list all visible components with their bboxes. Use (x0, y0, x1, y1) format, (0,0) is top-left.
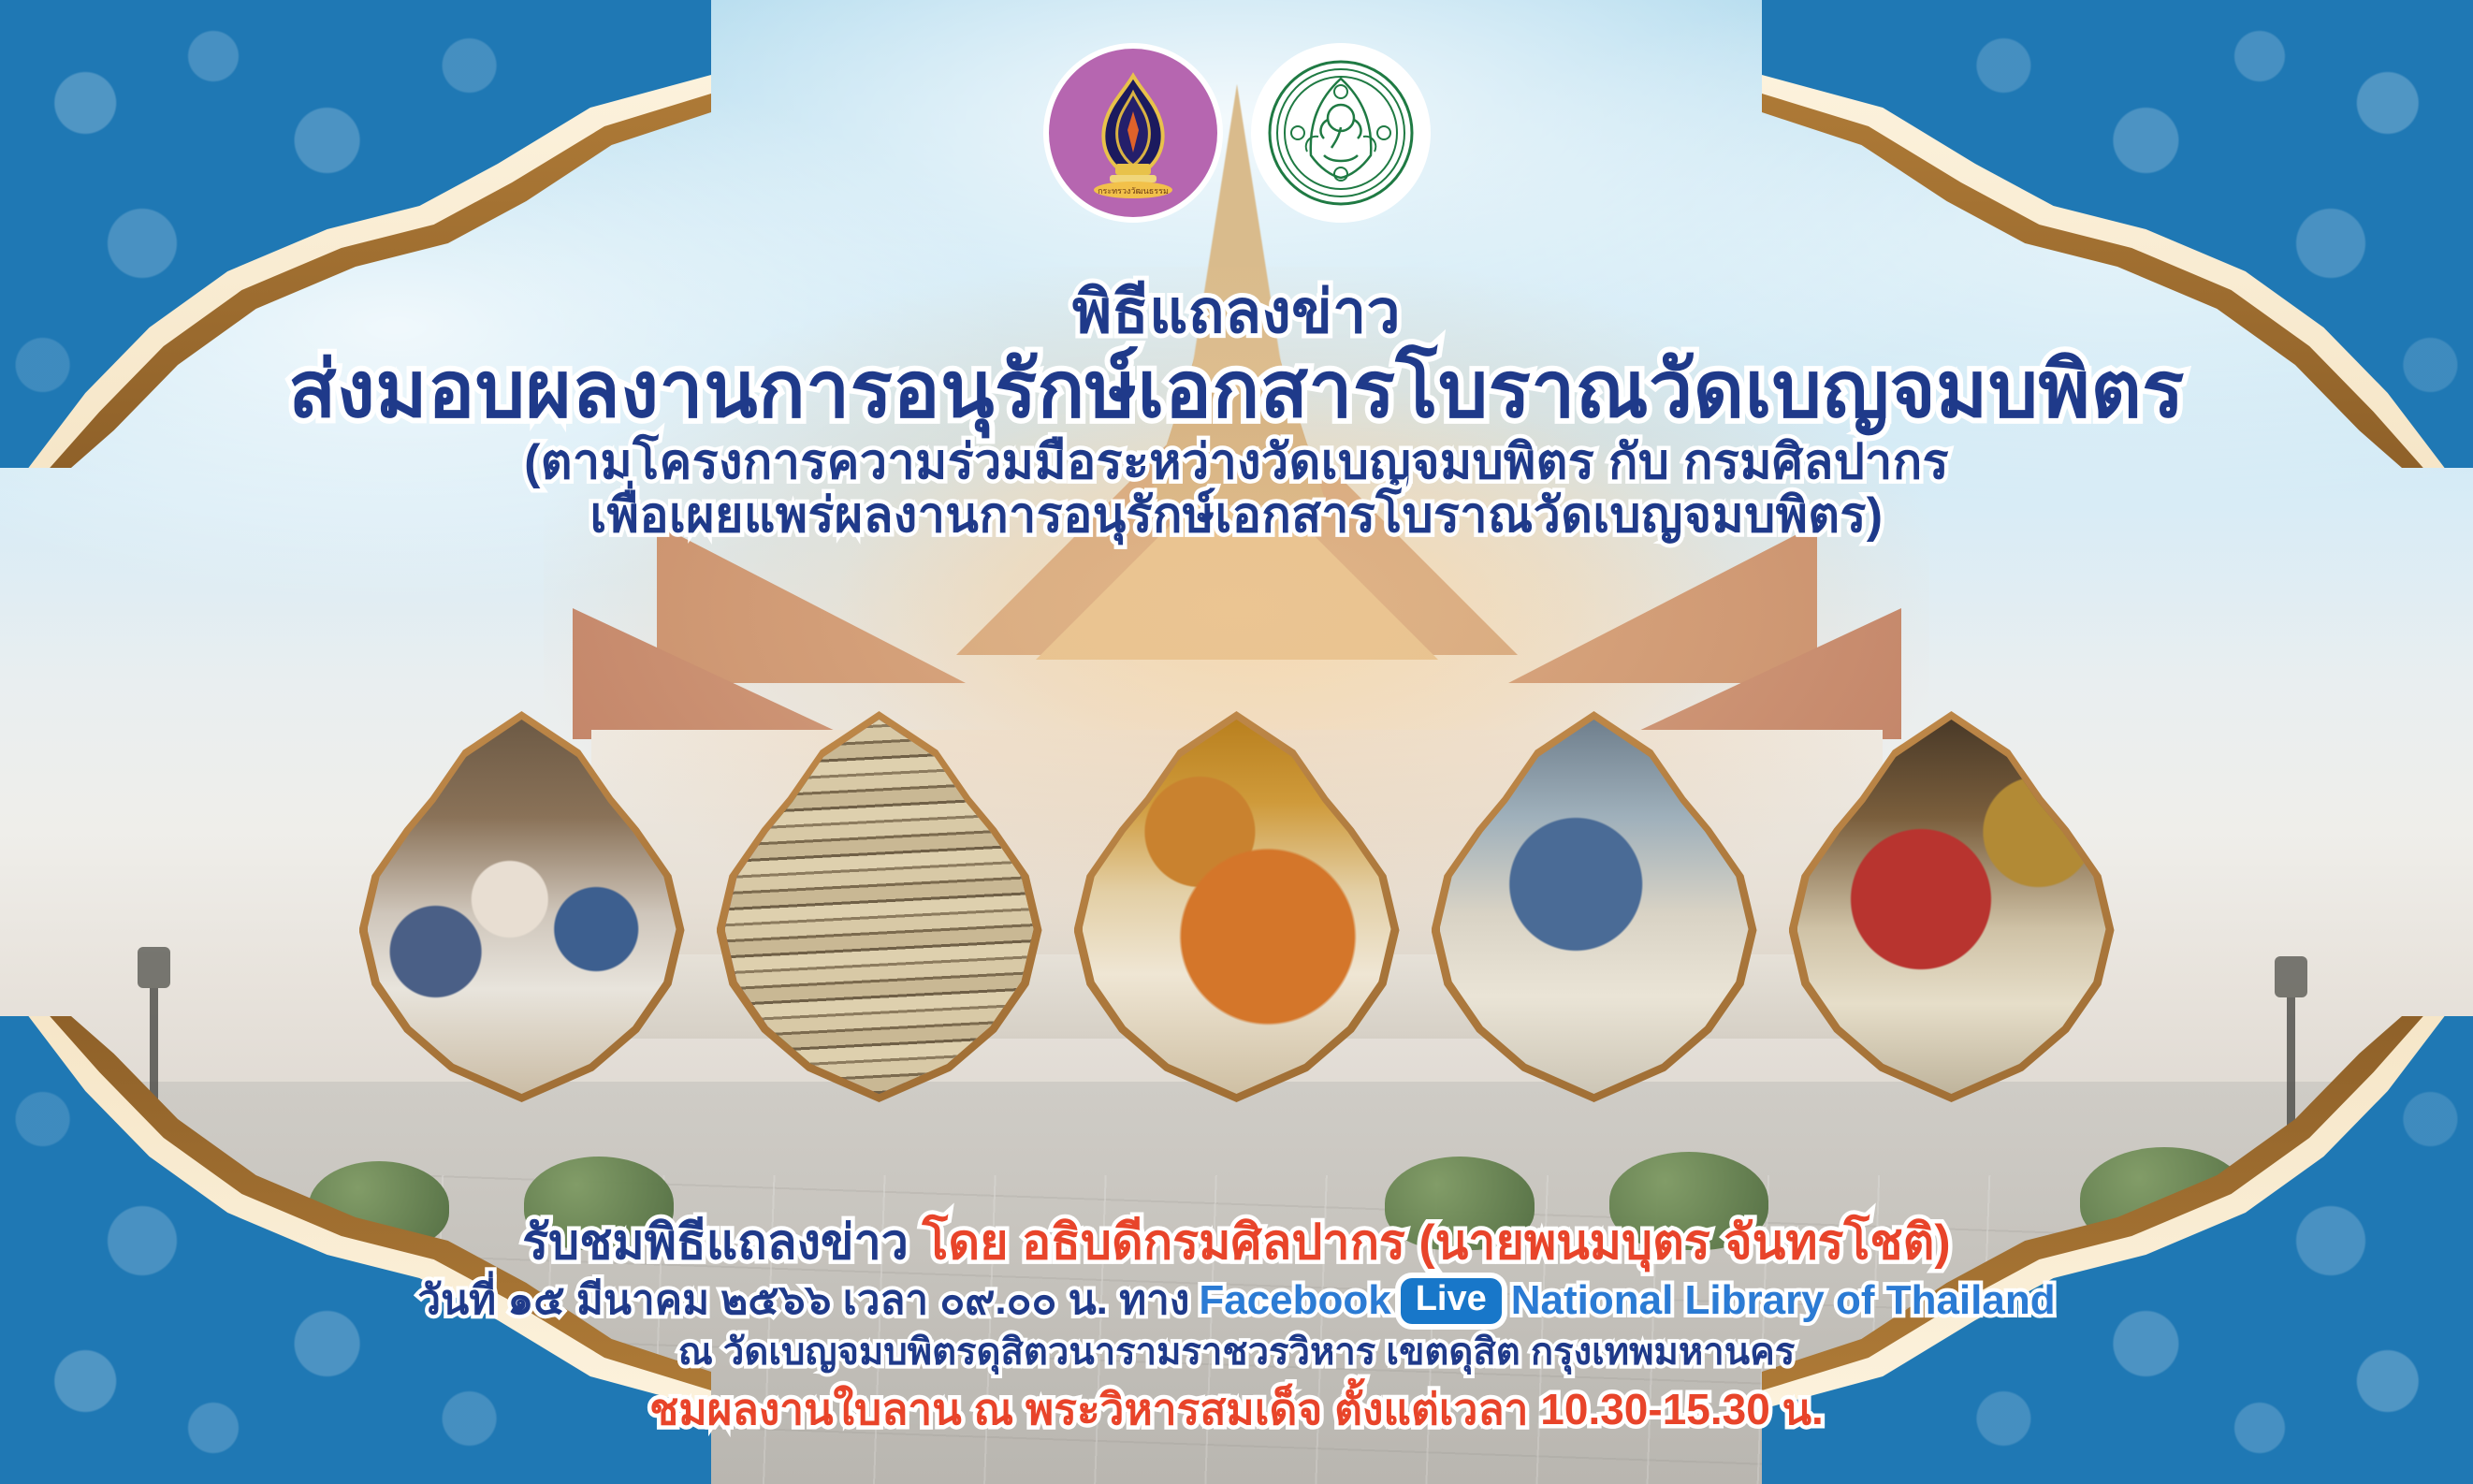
medallion-photo (725, 720, 1034, 1094)
photo-conservation-team (359, 711, 685, 1102)
medallion-image-clip (1440, 720, 1749, 1094)
medallion-image-clip (725, 720, 1034, 1094)
medallion-photo (1083, 720, 1391, 1094)
facebook-page-name[interactable]: National Library of Thailand (1511, 1278, 2056, 1323)
photo-medallion-row (0, 711, 2473, 1102)
medallion-image-clip (368, 720, 676, 1094)
photo-exhibition-panel (1432, 711, 1757, 1102)
live-badge[interactable]: Live (1401, 1278, 1502, 1325)
medallion-image-clip (1083, 720, 1391, 1094)
medallion-photo (368, 720, 676, 1094)
footer-block: รับชมพิธีแถลงข่าว โดย อธิบดีกรมศิลปากร (… (0, 1216, 2473, 1441)
footer-line-2: วันที่ ๑๕ มีนาคม ๒๕๖๖ เวลา ๐๙.๐๐ น. ทาง … (0, 1278, 2473, 1325)
title-line-2: ส่งมอบผลงานการอนุรักษ์เอกสารโบราณวัดเบญจ… (0, 348, 2473, 431)
footer-watch-label: รับชมพิธีแถลงข่าว (522, 1215, 909, 1270)
photo-monk-examining (1074, 711, 1400, 1102)
photo-manuscript-handling (1789, 711, 2115, 1102)
title-line-4: เพื่อเผยแพร่ผลงานการอนุรักษ์เอกสารโบราณว… (0, 490, 2473, 542)
photo-palm-leaf-stacks (717, 711, 1042, 1102)
title-block: พิธีแถลงข่าว ส่งมอบผลงานการอนุรักษ์เอกสา… (0, 281, 2473, 542)
footer-speaker-label: โดย อธิบดีกรมศิลปากร (นายพนมบุตร จันทรโช… (922, 1215, 1950, 1270)
medallion-image-clip (1797, 720, 2106, 1094)
title-line-3: (ตามโครงการความร่วมมือระหว่างวัดเบญจมบพิ… (0, 437, 2473, 488)
footer-line-1: รับชมพิธีแถลงข่าว โดย อธิบดีกรมศิลปากร (… (0, 1216, 2473, 1270)
poster-root: กระทรวงวัฒนธรรม พิธีแถลงข่าว (0, 0, 2473, 1484)
fine-arts-department-logo (1257, 49, 1425, 217)
facebook-label[interactable]: Facebook (1199, 1278, 1390, 1323)
footer-exhibit-label: ชมผลงานใบลาน ณ พระวิหารสมเด็จ ตั้งแต่เวล… (0, 1386, 2473, 1433)
medallion-photo (1440, 720, 1749, 1094)
medallion-photo (1797, 720, 2106, 1094)
footer-venue-label: ณ วัดเบญจมบพิตรดุสิตวนารามราชวรวิหาร เขต… (0, 1331, 2473, 1373)
logo-row: กระทรวงวัฒนธรรม (1049, 49, 1425, 217)
footer-datetime-label: วันที่ ๑๕ มีนาคม ๒๕๖๖ เวลา ๐๙.๐๐ น. ทาง (417, 1278, 1189, 1323)
title-line-1: พิธีแถลงข่าว (0, 281, 2473, 344)
ministry-of-culture-logo: กระทรวงวัฒนธรรม (1049, 49, 1217, 217)
ministry-of-culture-emblem-icon: กระทรวงวัฒนธรรม (1063, 63, 1203, 203)
svg-text:กระทรวงวัฒนธรรม: กระทรวงวัฒนธรรม (1098, 186, 1169, 196)
ganesha-emblem-icon (1266, 58, 1416, 208)
